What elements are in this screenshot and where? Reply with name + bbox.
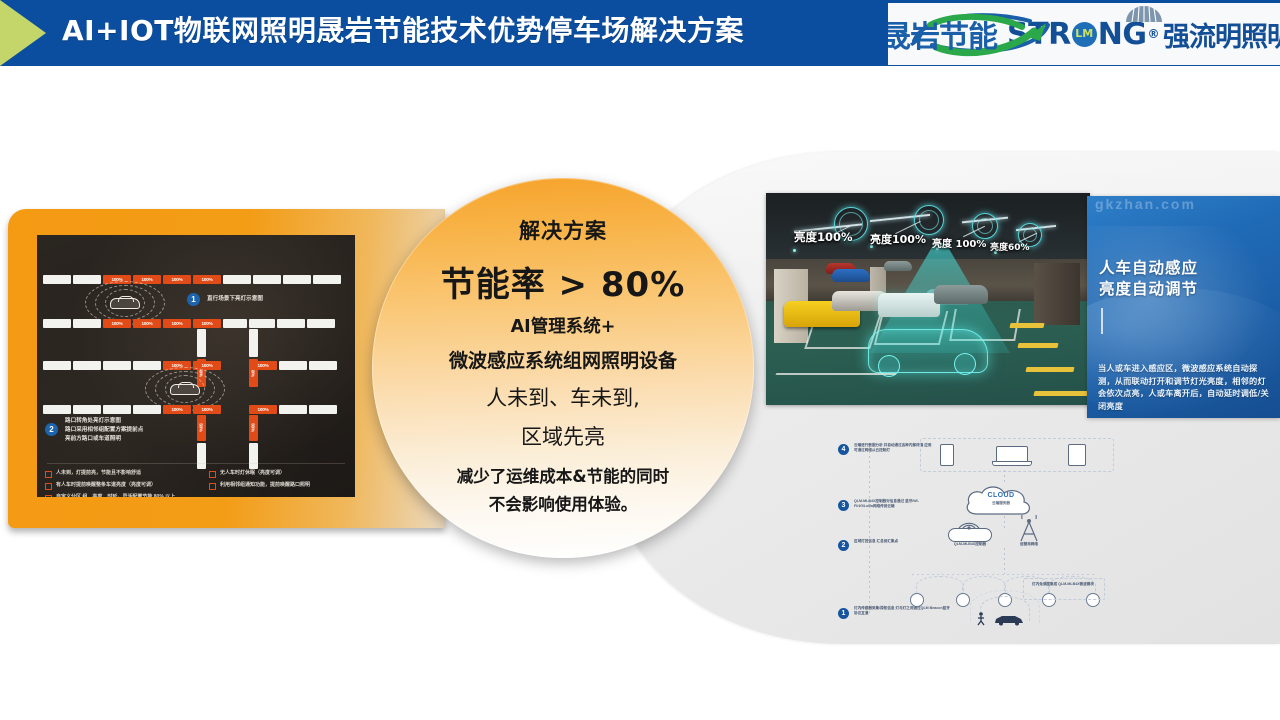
light-segment (313, 275, 341, 284)
light-segment (73, 361, 101, 370)
light-segment-vertical (249, 443, 258, 469)
oval-line-2: 微波感应系统组网照明设备 (372, 346, 754, 373)
light-segment (43, 275, 71, 284)
light-segment (73, 405, 101, 414)
car (934, 285, 988, 304)
legend-text-3: 有人车时提前唤醒整条车道亮度（亮度可调） (56, 482, 156, 489)
light-segment (253, 275, 281, 284)
lane-line (775, 373, 896, 375)
slide-canvas: AI+IOT物联网照明晟岩节能技术优势停车场解决方案 晟岩节能 STRLMNG®… (0, 0, 1280, 720)
phone-icon (940, 444, 954, 466)
panel-body-text: 当人或车进入感应区，微波感应系统自动探测，从而联动打开和调节灯光亮度，相邻的灯会… (1098, 362, 1270, 412)
parking-garage-photo: 亮度100% 亮度100% 亮度 100% 亮度60% (766, 193, 1090, 405)
diagram-rail (869, 446, 870, 614)
legend-marker (209, 483, 216, 490)
pillar (1034, 263, 1080, 325)
network-topology-diagram: 4 云端进行数据分析 并自动通过各种内部终端 应用可通过网络从云控制灯 3 QL… (828, 428, 1120, 636)
scene-badge-2: 2 (45, 423, 58, 436)
scene-label-2b: 路口采用相邻组配置方案提前点 (65, 426, 143, 434)
brightness-tag-4: 亮度60% (990, 240, 1030, 253)
legend-text-2: 无人车时灯休眠（亮度可调） (220, 470, 285, 477)
scene-badge-1: 1 (187, 293, 200, 306)
brightness-pct: 100% (163, 275, 191, 284)
oval-heading: 解决方案 (372, 215, 754, 245)
brightness-pct: 100% (103, 319, 131, 328)
oval-line-3: 人未到、车未到, (372, 382, 754, 412)
lane-marking (1009, 323, 1044, 328)
router-label: QLM-MLB4X控制器 (938, 542, 1002, 547)
module-tag-text: 灯内免调度集成 QLM-MLB4X微波模块 (1026, 582, 1100, 587)
parking-layout-diagram: 100% 100% 100% 100% 1 直行场景下亮灯示意图 100% (37, 235, 355, 497)
scene-label-2c: 亮前方路口或车道照明 (65, 435, 121, 443)
light-segment (309, 405, 337, 414)
brightness-pct: 100% (163, 405, 191, 414)
light-segment (283, 275, 311, 284)
brand-o-text: LM (1072, 27, 1097, 40)
brightness-pct: 100% (193, 275, 221, 284)
light-segment (279, 361, 307, 370)
lane-marking (1025, 367, 1074, 372)
brightness-pct-v: 50% (249, 355, 258, 391)
wifi-icon (956, 514, 982, 530)
light-segment (73, 319, 101, 328)
car-icon (170, 384, 200, 395)
feature-blue-panel: 人车自动感应 亮度自动调节 当人或车进入感应区，微波感应系统自动探测，从而联动打… (1087, 196, 1280, 418)
tablet-icon (1068, 444, 1086, 466)
step-note-1: 灯内传感器采集/探知信息 灯与灯之间通过QLM Beacon蓝牙协议互通 (854, 606, 950, 616)
lamp-node (956, 593, 970, 607)
cloud-sublabel: 云端服务器 (974, 501, 1028, 506)
carrier-network-label: 运营商网络 (1004, 542, 1054, 547)
light-segment (279, 405, 307, 414)
scene-label-2a: 路口转角处亮灯示意图 (65, 417, 121, 425)
step-badge-1: 1 (838, 608, 849, 619)
lane-marking (1033, 391, 1090, 396)
scene-label-1: 直行场景下亮灯示意图 (207, 295, 263, 303)
light-segment-vertical (197, 443, 206, 469)
oval-line-4: 区域先亮 (372, 421, 754, 451)
watermark: gkzhan.com (1095, 196, 1196, 212)
legend-marker (209, 471, 216, 478)
brightness-pct: 100% (163, 319, 191, 328)
legend-text-5: 自定义分区 组、亮度、时延，灵活配置节能 80% 以上 (56, 494, 175, 497)
light-segment-vertical (197, 329, 206, 357)
oval-line-5: 减少了运维成本&节能的同时 (372, 463, 754, 487)
registered-mark: ® (1147, 27, 1159, 41)
pedestrian-icon (976, 612, 986, 626)
legend-text-4: 利用相邻组通知功能，提前唤醒路口照明 (220, 482, 310, 489)
solution-oval-callout: 解决方案 节能率 > 80% AI管理系统+ 微波感应系统组网照明设备 人未到、… (372, 178, 754, 558)
laptop-base-icon (992, 461, 1032, 466)
brightness-pct-v: 50% (249, 410, 258, 446)
link-arc (916, 576, 964, 595)
bus-line (912, 574, 1096, 575)
oval-highlight: 节能率 > 80% (372, 257, 754, 306)
link-line (1004, 548, 1005, 574)
brightness-pct: 100% (249, 361, 277, 370)
oval-line-6: 不会影响使用体验。 (372, 491, 754, 515)
lamp-node (910, 593, 924, 607)
light-segment (249, 319, 275, 328)
link-line (1004, 516, 1005, 530)
slide-header: AI+IOT物联网照明晟岩节能技术优势停车场解决方案 晟岩节能 STRLMNG®… (0, 0, 1280, 72)
legend-marker (45, 471, 52, 478)
light-segment (103, 405, 131, 414)
cell-tower-icon (1012, 514, 1046, 542)
brightness-tag-1: 亮度100% (794, 229, 853, 245)
cloud-icon (963, 484, 1035, 516)
light-segment (133, 361, 161, 370)
light-segment (73, 275, 101, 284)
fan-icon (1124, 5, 1164, 23)
step-note-3: QLM-MLB4X控制器对信息通过 蓝牙/WI-FI/4G/LoRa网络传到云端 (854, 499, 932, 509)
car-icon (110, 298, 140, 309)
step-badge-3: 3 (838, 500, 849, 511)
light-segment (103, 361, 131, 370)
cloud-label: CLOUD (978, 492, 1024, 499)
wheel (954, 353, 976, 375)
brand-en-head: STR (1007, 17, 1071, 52)
router-icon (948, 528, 992, 542)
oval-line-1: AI管理系统+ (372, 313, 754, 338)
legend-text-1: 人未到，灯提前亮，节能且不影响舒适 (56, 470, 141, 477)
page-title: AI+IOT物联网照明晟岩节能技术优势停车场解决方案 (62, 9, 744, 53)
light-segment (309, 361, 337, 370)
panel-title-line1: 人车自动感应 (1099, 258, 1198, 279)
car (884, 261, 912, 271)
brand-o-badge: LM (1072, 22, 1097, 47)
panel-title: 人车自动感应 亮度自动调节 (1099, 258, 1198, 300)
step-badge-2: 2 (838, 540, 849, 551)
legend-marker (45, 495, 52, 497)
legend-marker (45, 483, 52, 490)
brightness-tag-2: 亮度100% (870, 231, 926, 247)
brand-name-cn: 晟岩节能 (885, 12, 1003, 56)
tag-dot (793, 249, 796, 252)
light-segment (133, 405, 161, 414)
step-badge-4: 4 (838, 444, 849, 455)
brightness-pct-v: 50% (197, 410, 206, 446)
car (832, 269, 870, 282)
light-segment (277, 319, 305, 328)
brightness-pct: 100% (193, 319, 221, 328)
light-segment (43, 361, 71, 370)
lane-marking (1017, 343, 1058, 348)
light-segment-vertical (249, 329, 258, 357)
legend-divider (47, 463, 345, 464)
light-segment (223, 319, 247, 328)
brightness-pct: 100% (133, 319, 161, 328)
brightness-tag-3: 亮度 100% (932, 235, 986, 250)
step-note-2: 区域灯控信息 汇总到汇集点 (854, 539, 932, 544)
panel-divider (1101, 308, 1103, 334)
light-segment (223, 275, 251, 284)
light-segment (43, 405, 71, 414)
light-segment (307, 319, 335, 328)
brand-tagline-cn: 强流明照明 (1163, 15, 1280, 54)
link-line (1004, 470, 1005, 484)
light-segment (43, 319, 71, 328)
panel-title-line2: 亮度自动调节 (1099, 279, 1198, 300)
brand-logo: 晟岩节能 STRLMNG® 强流明照明 (885, 3, 1280, 65)
car-white (878, 293, 940, 317)
car-icon (994, 614, 1024, 626)
